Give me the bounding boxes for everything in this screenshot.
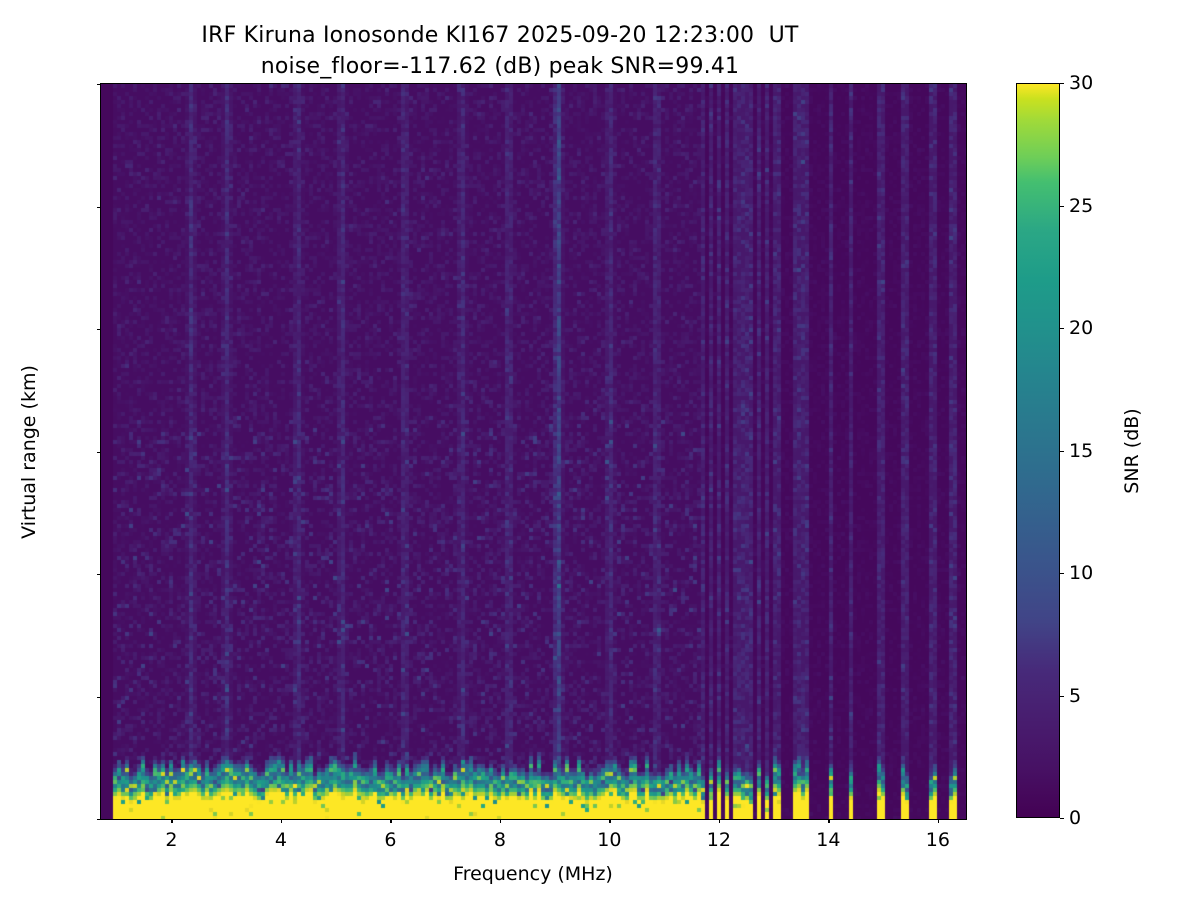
- colorbar-tick-mark: [1060, 696, 1064, 697]
- colorbar-tick-label: 5: [1069, 685, 1081, 707]
- x-axis-label: Frequency (MHz): [453, 863, 613, 885]
- colorbar-tick-label: 25: [1069, 195, 1093, 217]
- y-tick-mark: [97, 207, 101, 208]
- x-tick-mark: [938, 819, 939, 823]
- x-tick-label: 2: [165, 829, 177, 851]
- x-tick-label: 16: [926, 829, 950, 851]
- colorbar-tick-mark: [1060, 451, 1064, 452]
- colorbar-tick-label: 30: [1069, 72, 1093, 94]
- x-tick-mark: [500, 819, 501, 823]
- y-tick-mark: [97, 697, 101, 698]
- x-tick-label: 10: [597, 829, 621, 851]
- x-tick-label: 6: [384, 829, 396, 851]
- x-tick-mark: [281, 819, 282, 823]
- colorbar-gradient: [1016, 83, 1060, 818]
- y-tick-mark: [97, 819, 101, 820]
- colorbar-tick-mark: [1060, 328, 1064, 329]
- x-tick-label: 4: [275, 829, 287, 851]
- y-axis-label: Virtual range (km): [18, 365, 40, 539]
- figure-title: IRF Kiruna Ionosonde KI167 2025-09-20 12…: [0, 20, 1000, 82]
- colorbar-tick-label: 15: [1069, 440, 1093, 462]
- x-tick-mark: [171, 819, 172, 823]
- colorbar-tick-label: 20: [1069, 317, 1093, 339]
- y-tick-mark: [97, 84, 101, 85]
- title-line-2: noise_floor=-117.62 (dB) peak SNR=99.41: [0, 51, 1000, 82]
- colorbar-label: SNR (dB): [1121, 408, 1143, 493]
- x-tick-label: 14: [816, 829, 840, 851]
- x-tick-label: 12: [707, 829, 731, 851]
- x-tick-mark: [719, 819, 720, 823]
- x-tick-mark: [390, 819, 391, 823]
- colorbar-tick-mark: [1060, 818, 1064, 819]
- y-tick-mark: [97, 329, 101, 330]
- colorbar-tick-mark: [1060, 573, 1064, 574]
- ionogram-figure: IRF Kiruna Ionosonde KI167 2025-09-20 12…: [0, 0, 1200, 900]
- y-tick-mark: [97, 452, 101, 453]
- plot-axes: Virtual range (km) Frequency (MHz) 01002…: [100, 83, 967, 820]
- title-line-1: IRF Kiruna Ionosonde KI167 2025-09-20 12…: [0, 20, 1000, 51]
- x-tick-mark: [828, 819, 829, 823]
- x-tick-label: 8: [494, 829, 506, 851]
- ionogram-heatmap: [101, 84, 966, 819]
- colorbar-tick-mark: [1060, 83, 1064, 84]
- colorbar-tick-label: 0: [1069, 807, 1081, 829]
- colorbar-tick-mark: [1060, 206, 1064, 207]
- colorbar: SNR (dB) 051015202530: [1016, 83, 1060, 818]
- x-tick-mark: [609, 819, 610, 823]
- colorbar-tick-label: 10: [1069, 562, 1093, 584]
- y-tick-mark: [97, 574, 101, 575]
